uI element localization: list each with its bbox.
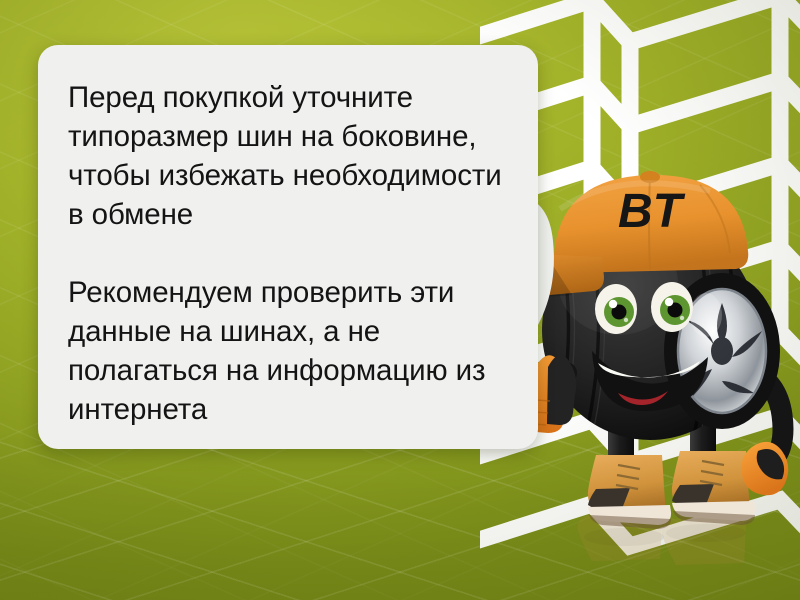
mascot-eye-left [595, 284, 637, 334]
speech-bubble: Перед покупкой уточните типоразмер шин н… [38, 45, 538, 449]
cap-logo-text: BT [618, 185, 686, 238]
tire-advice-banner: BT Перед покупкой уточните типоразмер ши… [0, 0, 800, 600]
mascot-eye-right [651, 282, 693, 332]
bubble-paragraph-2: Рекомендуем проверить эти данные на шина… [68, 273, 508, 429]
mascot-boot-left [588, 455, 671, 529]
bubble-paragraph-1: Перед покупкой уточните типоразмер шин н… [68, 78, 508, 234]
